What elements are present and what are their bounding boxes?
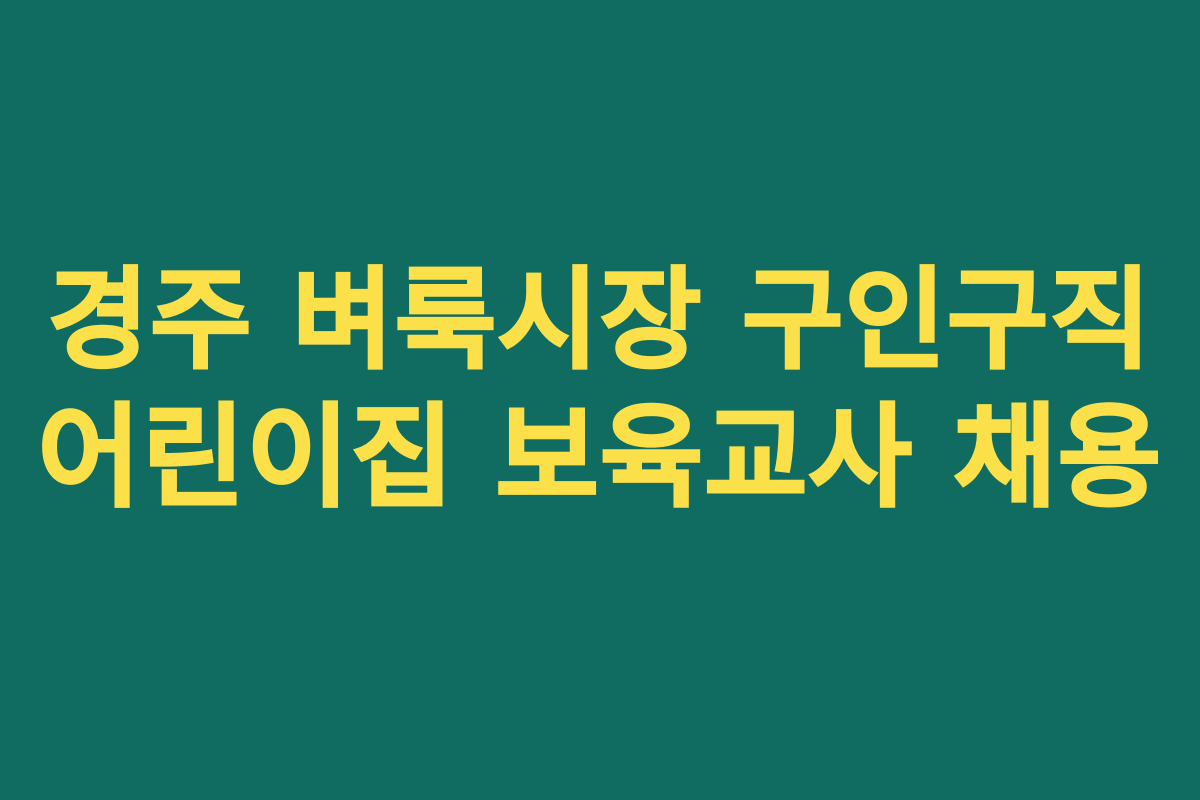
- promo-banner: 경주 벼룩시장 구인구직 어린이집 보육교사 채용: [0, 0, 1200, 800]
- headline-block: 경주 벼룩시장 구인구직 어린이집 보육교사 채용: [0, 256, 1200, 524]
- headline-line-2: 어린이집 보육교사 채용: [0, 392, 1200, 524]
- headline-line-1: 경주 벼룩시장 구인구직: [0, 256, 1200, 386]
